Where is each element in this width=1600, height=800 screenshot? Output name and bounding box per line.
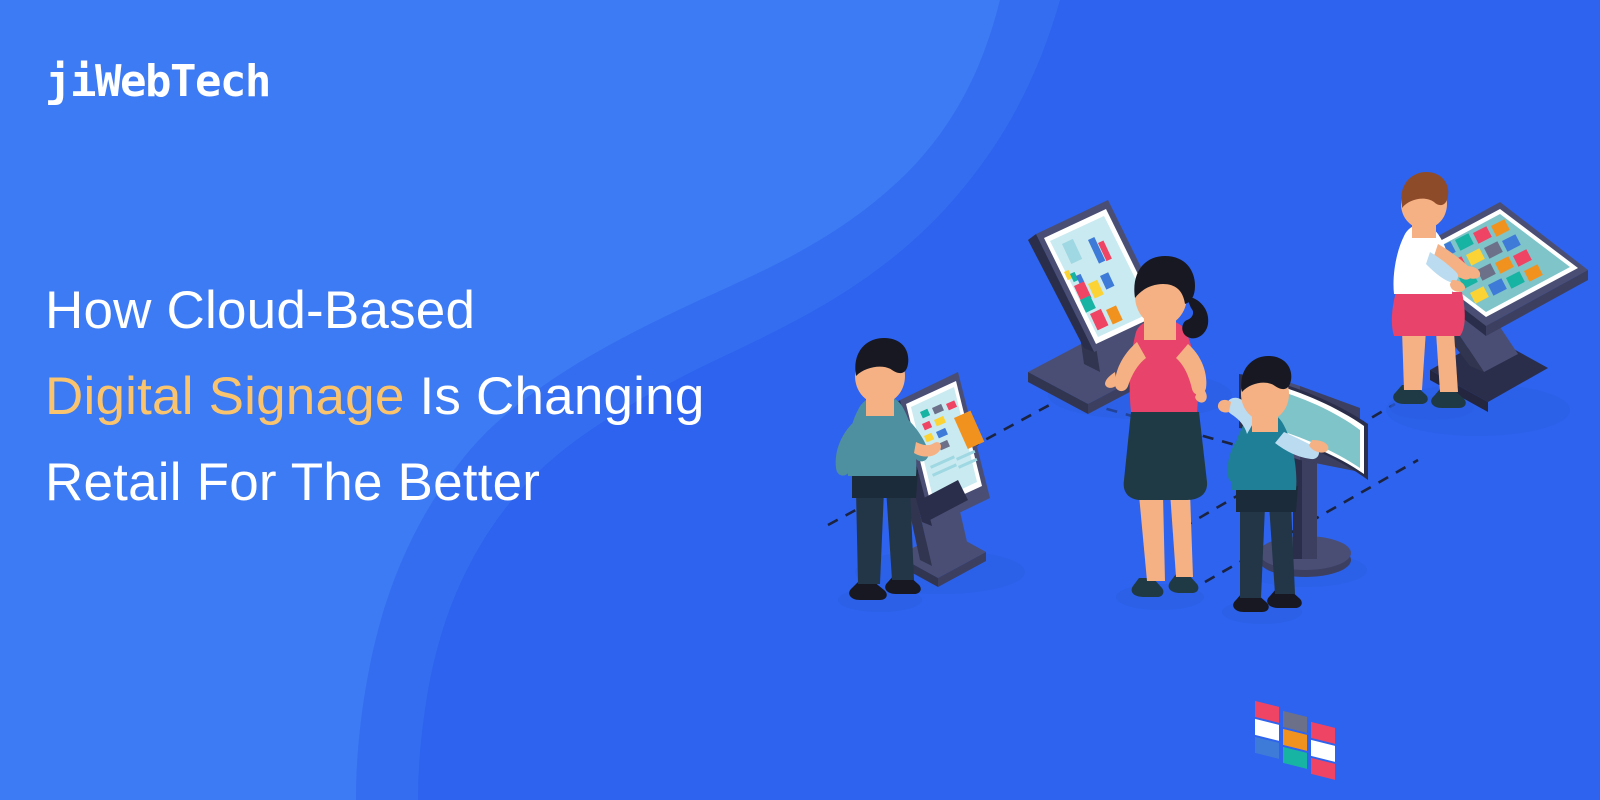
headline-block: How Cloud-Based Digital Signage Is Chang… (45, 268, 865, 526)
brand-logo-text: jiWebTech (45, 56, 270, 107)
hero-banner: jiWebTech How Cloud-Based Digital Signag… (0, 0, 1600, 800)
headline-line-3: Retail For The Better (45, 440, 865, 526)
headline-line-2: Digital Signage Is Changing (45, 354, 865, 440)
headline-accent-text: Digital Signage (45, 367, 405, 426)
brand-logo[interactable]: jiWebTech (45, 60, 270, 104)
headline-line-1: How Cloud-Based (45, 268, 865, 354)
headline-line-2-rest: Is Changing (405, 367, 705, 426)
